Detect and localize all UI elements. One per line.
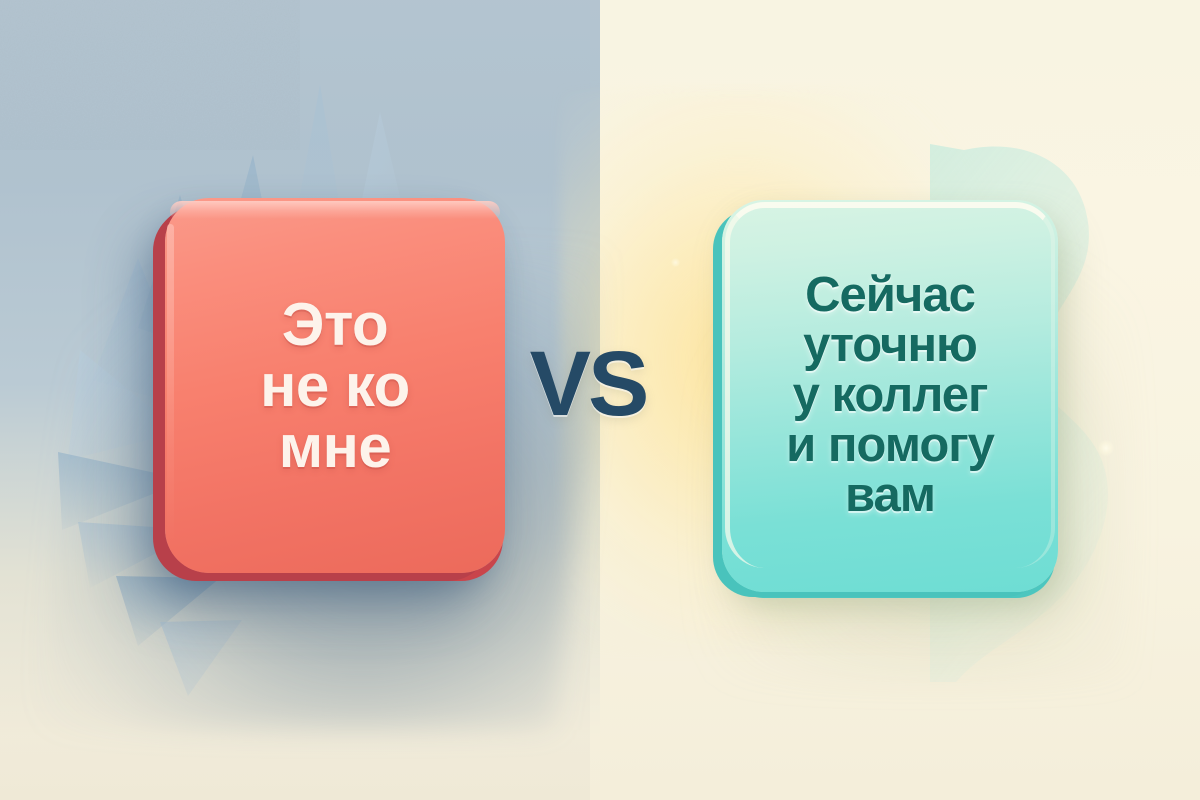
helpful-response-card[interactable]: Сейчас уточню у коллег и помогу вам bbox=[722, 200, 1058, 592]
versus-label: VS bbox=[513, 332, 663, 437]
helpful-response-text: Сейчас уточню у коллег и помогу вам bbox=[772, 271, 1008, 521]
negative-response-text: Это не ко мне bbox=[246, 294, 424, 478]
film-grain-texture bbox=[0, 0, 300, 150]
light-speck-icon bbox=[1098, 440, 1114, 456]
comparison-poster: Это не ко мне VS Сейчас уточню у коллег … bbox=[0, 0, 1200, 800]
light-speck-icon bbox=[671, 258, 680, 267]
negative-response-card[interactable]: Это не ко мне bbox=[165, 198, 505, 573]
